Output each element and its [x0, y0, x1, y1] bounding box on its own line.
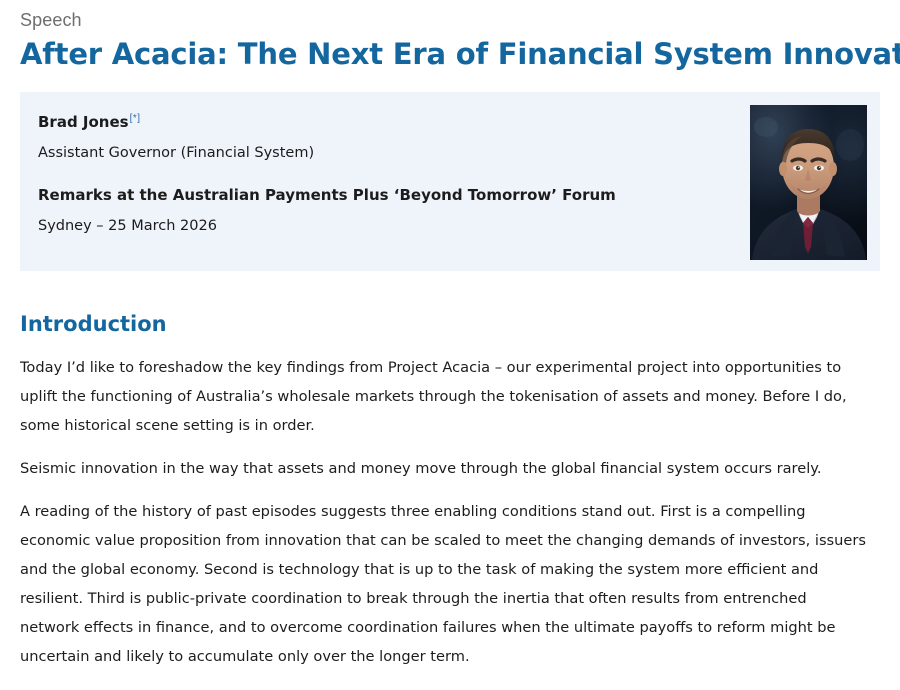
speech-info-box: Brad Jones[*] Assistant Governor (Financ…	[20, 92, 880, 271]
event-title: Remarks at the Australian Payments Plus …	[38, 185, 856, 205]
page-title: After Acacia: The Next Era of Financial …	[20, 37, 880, 71]
author-portrait-photo	[750, 105, 867, 260]
author-line: Brad Jones[*]	[38, 112, 856, 132]
section-heading-introduction: Introduction	[20, 311, 880, 337]
author-name: Brad Jones	[38, 112, 129, 132]
body-paragraph: A reading of the history of past episode…	[20, 497, 868, 671]
author-role: Assistant Governor (Financial System)	[38, 143, 856, 163]
body-paragraph: Today I’d like to foreshadow the key fin…	[20, 353, 868, 440]
body-paragraph: Seismic innovation in the way that asset…	[20, 454, 868, 483]
event-location-date: Sydney – 25 March 2026	[38, 216, 856, 236]
footnote-reference-link[interactable]: [*]	[130, 113, 141, 124]
speech-page: Speech After Acacia: The Next Era of Fin…	[0, 0, 900, 690]
speech-body: Introduction Today I’d like to foreshado…	[20, 271, 880, 671]
category-kicker: Speech	[20, 0, 880, 31]
